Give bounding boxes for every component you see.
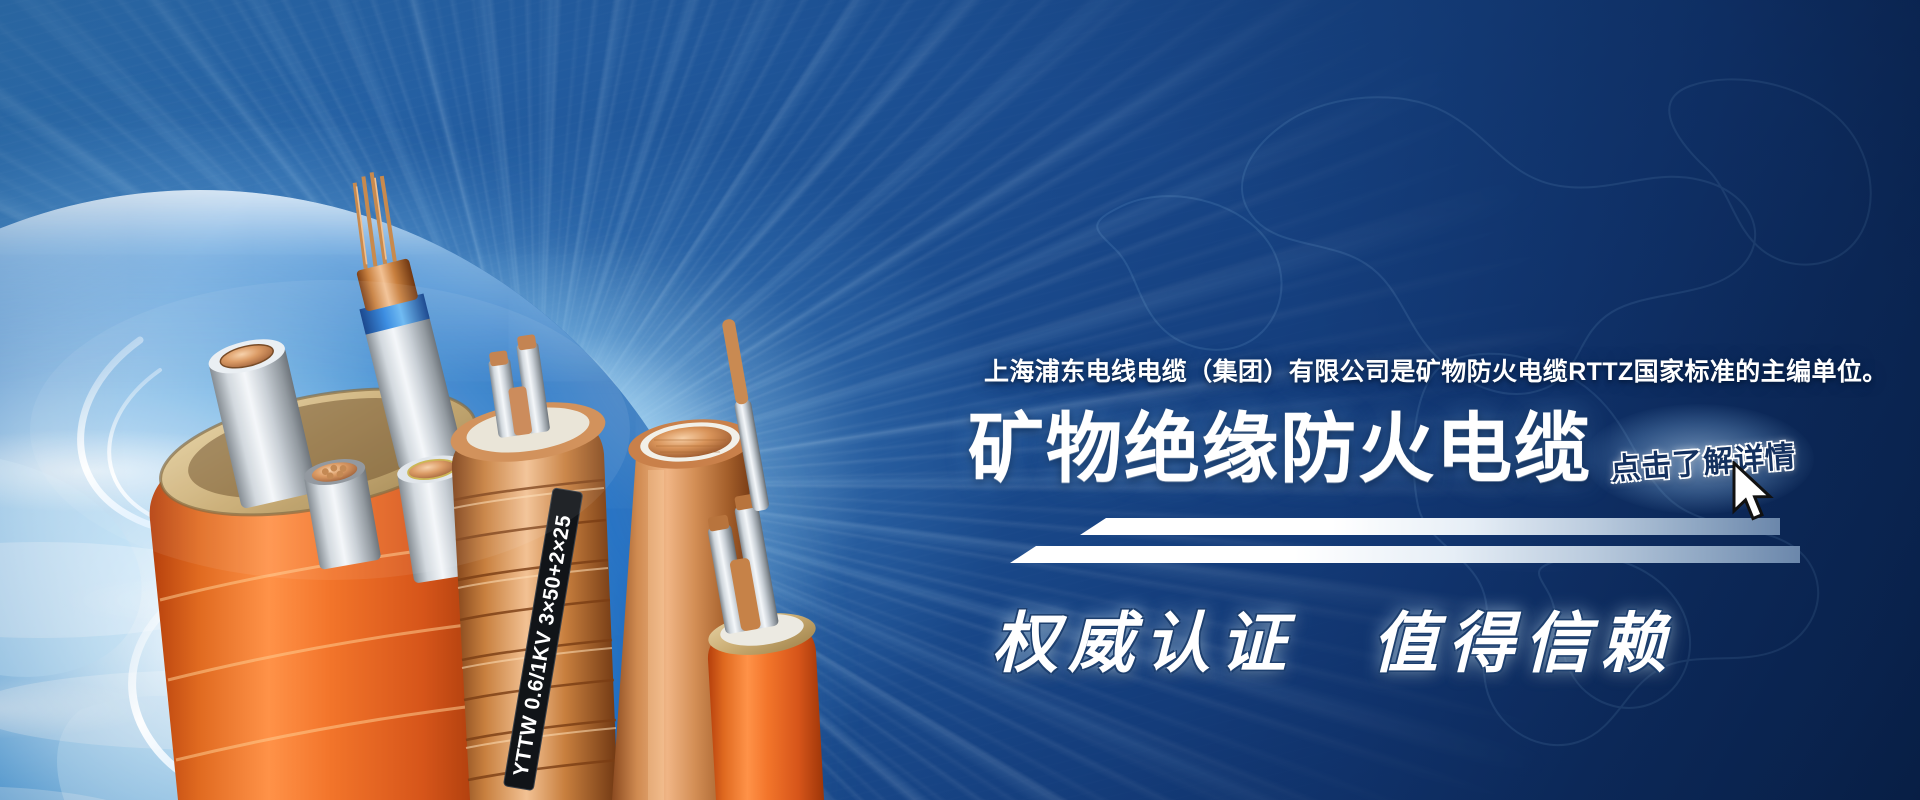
banner-kicker: 上海浦东电线电缆（集团）有限公司是矿物防火电缆RTTZ国家标准的主编单位。 (984, 352, 1870, 388)
decorative-bar-top (1080, 518, 1780, 535)
decorative-bars (970, 514, 1870, 580)
headline-row: 矿物绝缘防火电缆 点击了解详情 (968, 412, 1870, 488)
decorative-bar-bottom (1010, 546, 1800, 563)
hero-banner: YTTW 0.6/1KV 3×50+2×25 (0, 0, 1920, 800)
learn-more-button[interactable]: 点击了解详情 (1609, 431, 1798, 489)
banner-tagline: 权威认证 值得信赖 (992, 590, 1870, 686)
cable-product-group: YTTW 0.6/1KV 3×50+2×25 (0, 0, 980, 800)
cta-wrapper[interactable]: 点击了解详情 (1610, 438, 1796, 482)
banner-copy: 上海浦东电线电缆（集团）有限公司是矿物防火电缆RTTZ国家标准的主编单位。 矿物… (970, 352, 1870, 686)
banner-headline: 矿物绝缘防火电缆 (968, 412, 1592, 488)
